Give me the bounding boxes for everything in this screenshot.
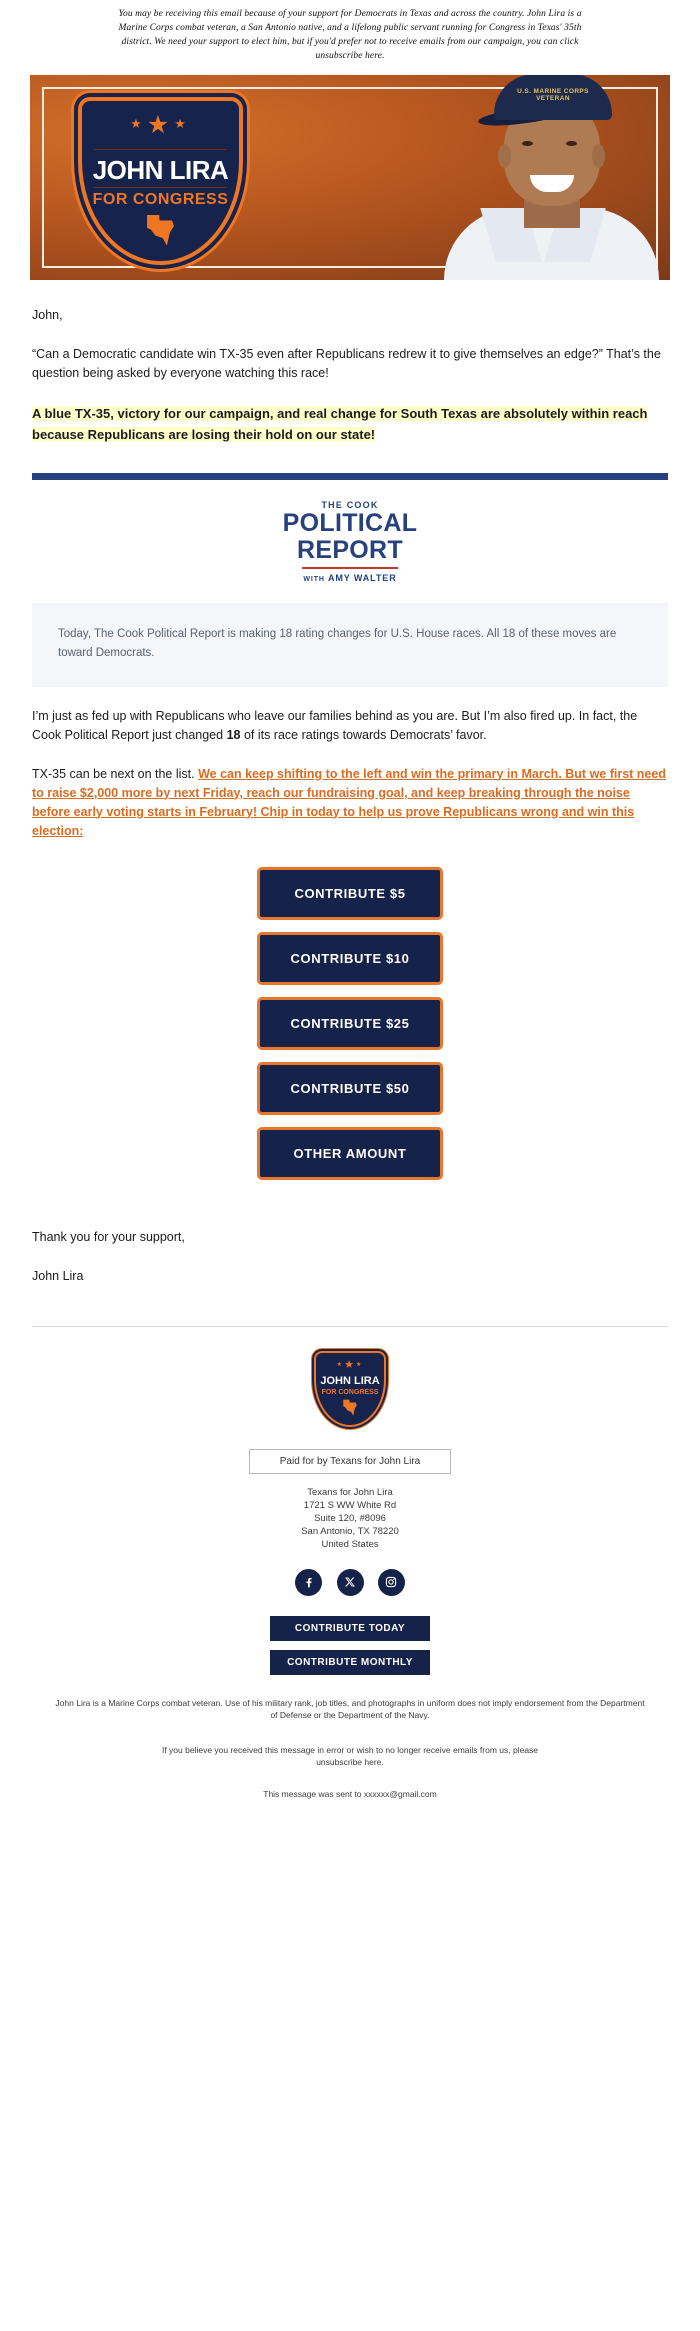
instagram-icon[interactable] <box>378 1569 405 1596</box>
rating-count: 18 <box>227 728 241 742</box>
address-country: United States <box>0 1538 700 1551</box>
shield-tagline: FOR CONGRESS <box>78 191 243 209</box>
contribute-today-button[interactable]: CONTRIBUTE TODAY <box>270 1616 430 1641</box>
other-amount-button[interactable]: OTHER AMOUNT <box>257 1127 443 1180</box>
military-disclaimer: John Lira is a Marine Corps combat veter… <box>52 1697 648 1722</box>
greeting-line: John, <box>32 306 668 325</box>
contribute-25-button[interactable]: CONTRIBUTE $25 <box>257 997 443 1050</box>
unsubscribe-link-top[interactable]: unsubscribe here. <box>316 51 385 61</box>
shield-candidate-name: JOHN LIRA <box>78 155 243 186</box>
optout-text: If you believe you received this message… <box>162 1745 538 1755</box>
footer-shield-name: JOHN LIRA <box>314 1375 386 1387</box>
cook-followup-paragraph: I’m just as fed up with Republicans who … <box>32 707 668 745</box>
cook-title-line-1: POLITICAL <box>32 510 668 537</box>
contribute-10-button[interactable]: CONTRIBUTE $10 <box>257 932 443 985</box>
preheader-text: You may be receiving this email because … <box>0 0 700 73</box>
shield-rule-bottom <box>94 187 227 188</box>
cook-quote-text: Today, The Cook Political Report is maki… <box>32 603 668 687</box>
unsubscribe-link-footer[interactable]: unsubscribe here. <box>316 1757 384 1767</box>
cook-title-line-2: REPORT <box>32 537 668 564</box>
portrait-eye-right <box>566 141 577 146</box>
cap-text: U.S. MARINE CORPS VETERAN <box>500 88 606 102</box>
email-page: You may be receiving this email because … <box>0 0 700 1825</box>
preheader-line-1: You may be receiving this email because … <box>118 9 581 19</box>
preheader-line-2: Marine Corps combat veteran, a San Anton… <box>119 23 582 33</box>
cook-byline-with: WITH <box>303 576 324 583</box>
cook-underline-rule <box>302 567 398 569</box>
address-street: 1721 S WW White Rd <box>0 1499 700 1512</box>
email-footer: ★★★ JOHN LIRA FOR CONGRESS Paid for by T… <box>0 1327 700 1825</box>
cap-text-line-1: U.S. MARINE CORPS <box>517 88 589 95</box>
signature-line: John Lira <box>32 1267 668 1286</box>
address-suite: Suite 120, #8096 <box>0 1512 700 1525</box>
x-twitter-icon[interactable] <box>337 1569 364 1596</box>
highlight-text: A blue TX-35, victory for our campaign, … <box>32 406 647 442</box>
portrait-ear-right <box>592 144 605 168</box>
contribute-monthly-button[interactable]: CONTRIBUTE MONTHLY <box>270 1650 430 1675</box>
facebook-icon[interactable] <box>295 1569 322 1596</box>
cook-byline: WITH AMY WALTER <box>32 573 668 583</box>
signoff-block: Thank you for your support, John Lira <box>0 1192 700 1286</box>
cook-byline-name: AMY WALTER <box>328 573 397 583</box>
followup-text-b: of its race ratings towards Democrats’ f… <box>240 728 486 742</box>
address-org: Texans for John Lira <box>0 1486 700 1499</box>
cook-logo: THE COOK POLITICAL REPORT WITH AMY WALTE… <box>32 480 668 589</box>
hero-banner-image: ★★★ JOHN LIRA FOR CONGRESS U.S. MARINE C… <box>30 75 670 280</box>
cap-text-line-2: VETERAN <box>536 95 570 102</box>
email-body-continued: I’m just as fed up with Republicans who … <box>0 707 700 841</box>
candidate-portrait: U.S. MARINE CORPS VETERAN <box>426 75 670 280</box>
mailing-address: Texans for John Lira 1721 S WW White Rd … <box>0 1486 700 1551</box>
highlight-paragraph: A blue TX-35, victory for our campaign, … <box>32 403 668 445</box>
campaign-shield-logo: ★★★ JOHN LIRA FOR CONGRESS <box>78 97 243 265</box>
footer-shield-logo: ★★★ JOHN LIRA FOR CONGRESS <box>314 1351 386 1427</box>
thanks-line: Thank you for your support, <box>32 1228 668 1247</box>
address-city: San Antonio, TX 78220 <box>0 1525 700 1538</box>
sent-to-line: This message was sent to xxxxxx@gmail.co… <box>0 1789 700 1807</box>
email-body: John, “Can a Democratic candidate win TX… <box>0 306 700 445</box>
paid-for-disclosure: Paid for by Texans for John Lira <box>249 1449 451 1474</box>
ask-lead-text: TX-35 can be next on the list. <box>32 767 198 781</box>
portrait-eye-left <box>522 141 533 146</box>
portrait-ear-left <box>498 144 511 168</box>
contribution-buttons: CONTRIBUTE $5 CONTRIBUTE $10 CONTRIBUTE … <box>0 841 700 1180</box>
contribute-50-button[interactable]: CONTRIBUTE $50 <box>257 1062 443 1115</box>
optout-block: If you believe you received this message… <box>52 1744 648 1769</box>
cook-political-report-card: THE COOK POLITICAL REPORT WITH AMY WALTE… <box>32 473 668 687</box>
footer-stars-icon: ★★★ <box>314 1358 386 1371</box>
footer-shield-tagline: FOR CONGRESS <box>314 1389 386 1396</box>
intro-paragraph: “Can a Democratic candidate win TX-35 ev… <box>32 345 668 383</box>
social-links <box>0 1569 700 1596</box>
contribute-5-button[interactable]: CONTRIBUTE $5 <box>257 867 443 920</box>
shield-rule-top <box>94 149 227 150</box>
preheader-line-3: district. We need your support to elect … <box>122 37 579 47</box>
ask-paragraph: TX-35 can be next on the list. We can ke… <box>32 765 668 841</box>
shield-stars-icon: ★★★ <box>78 113 243 138</box>
